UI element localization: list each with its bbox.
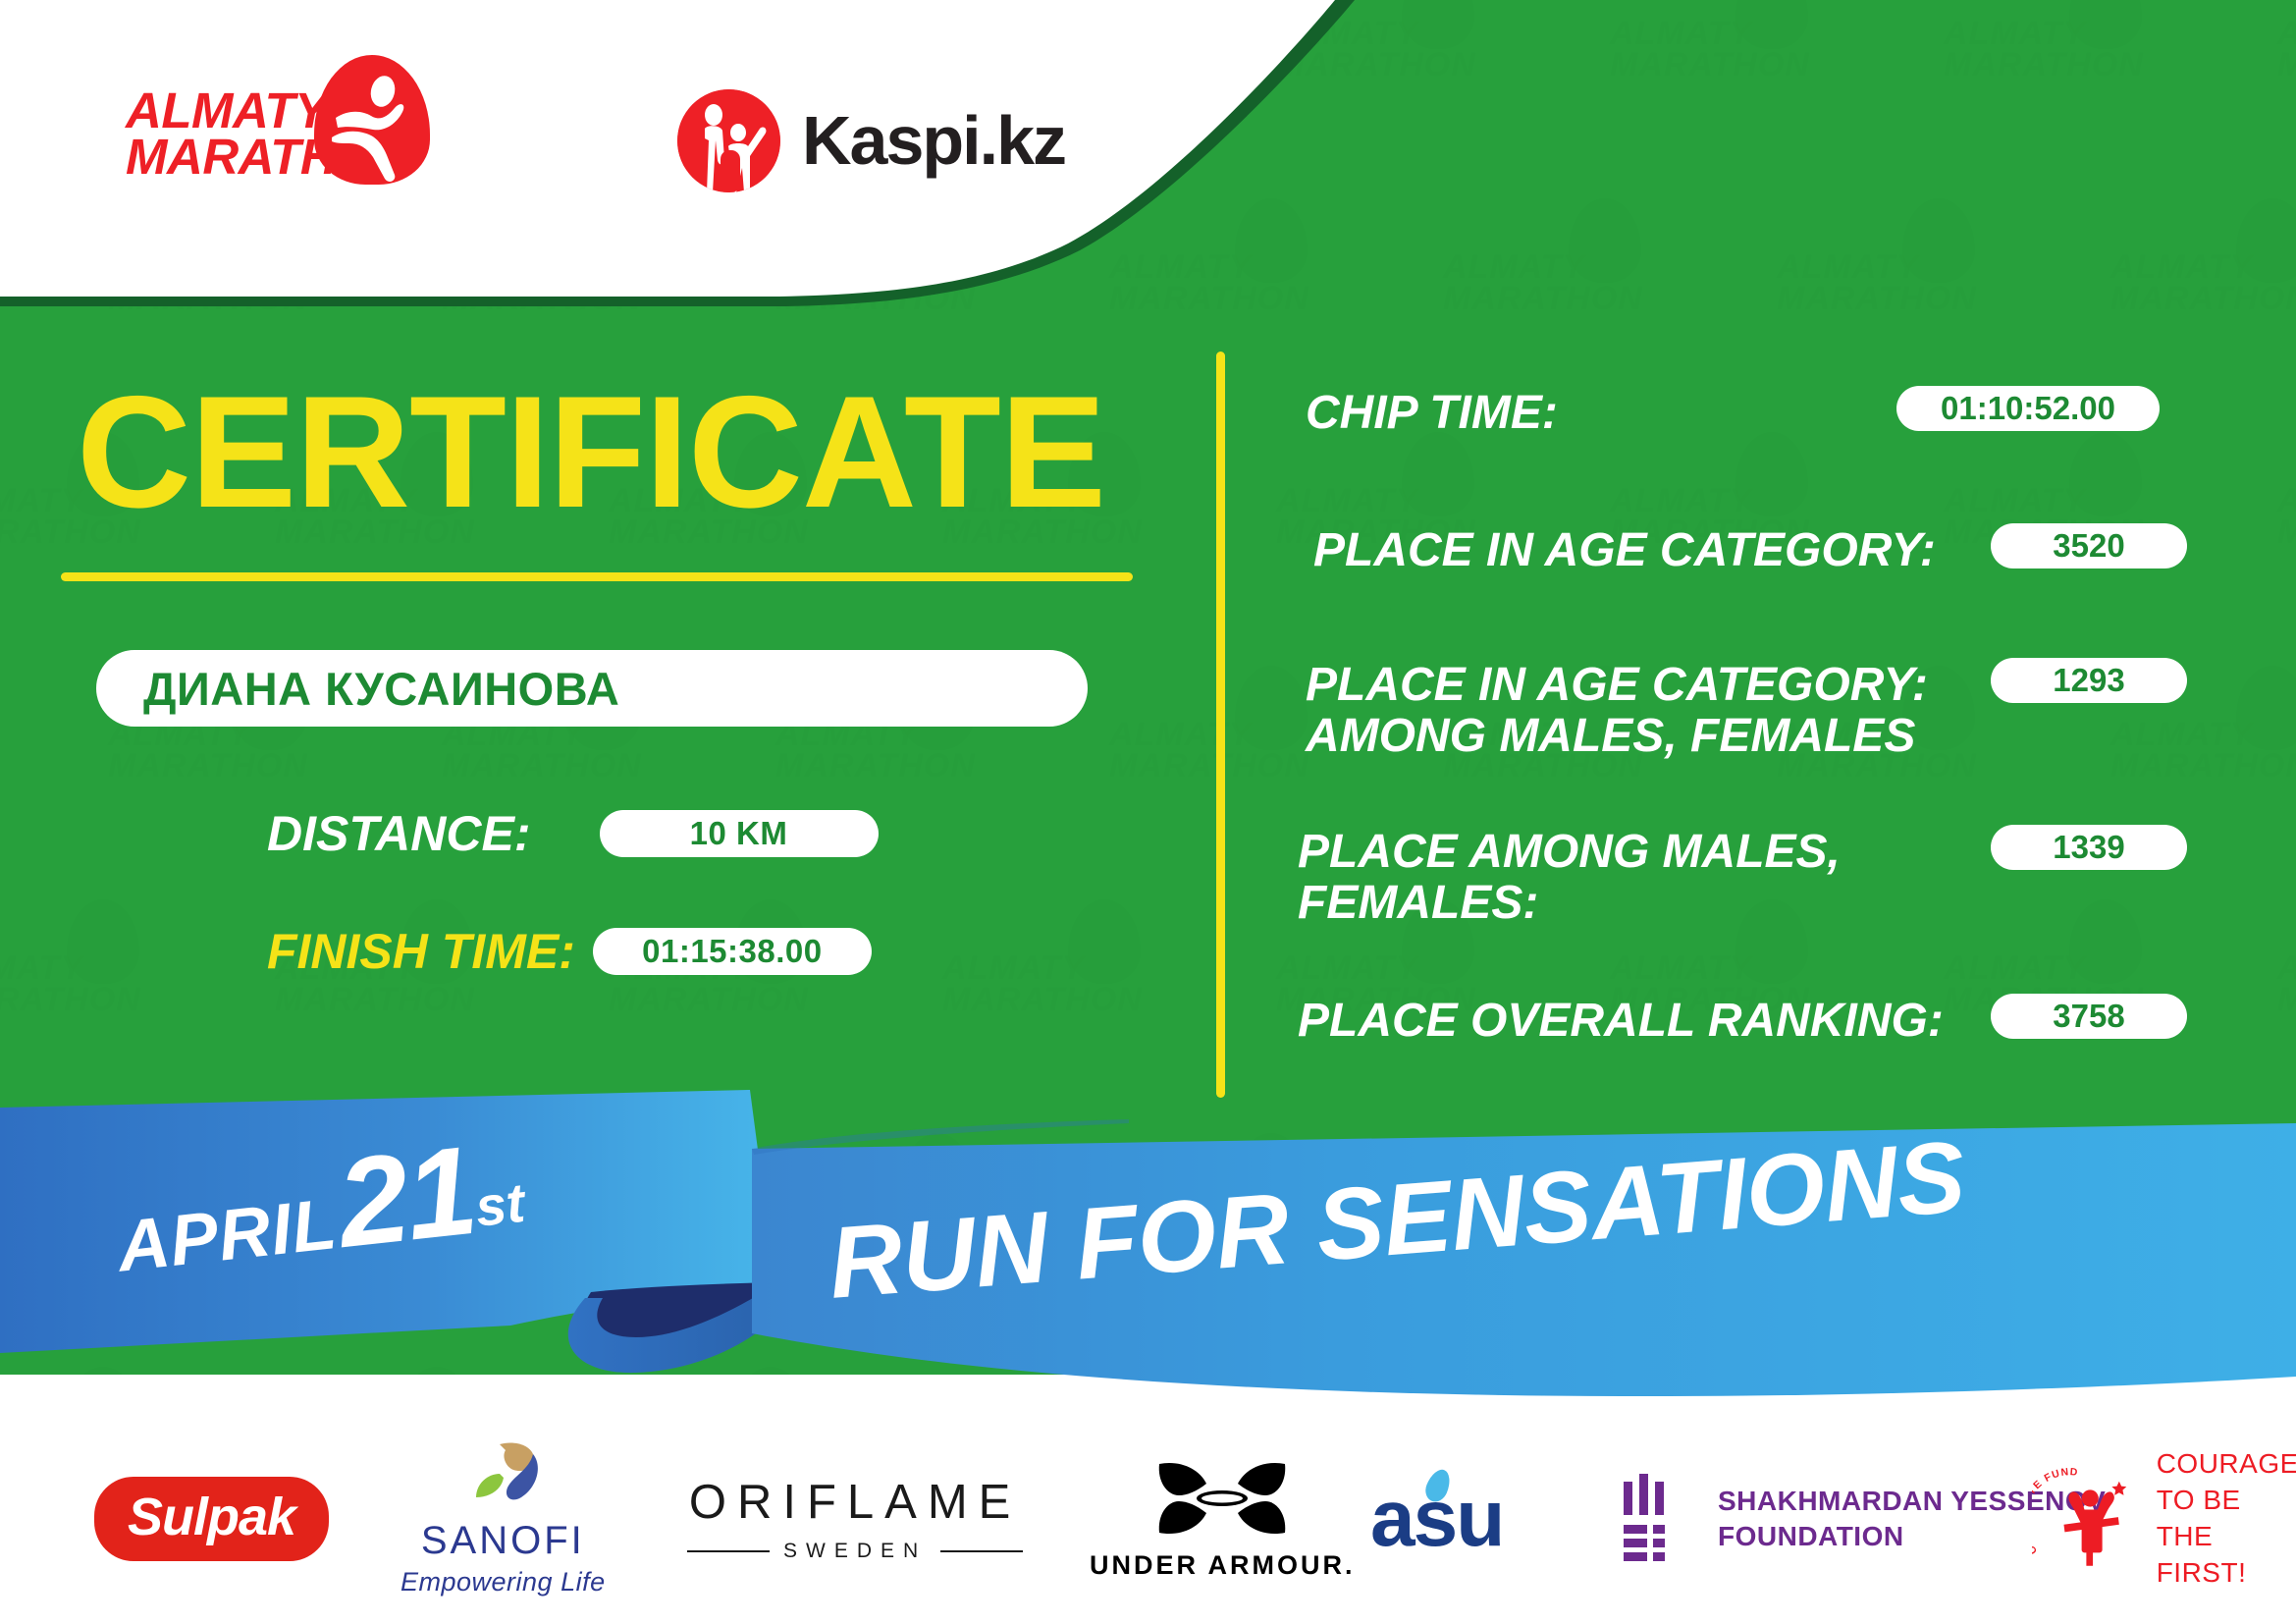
watermark-text: ALMATYMARATHON [2277, 485, 2296, 549]
watermark-text: ALMATYMARATHON [108, 719, 308, 783]
courage-figure-icon: CORPORATE FUND [2032, 1468, 2143, 1570]
stat-value-place-age-among: 1293 [1991, 658, 2187, 703]
sponsor-sanofi: SANOFI Empowering Life [400, 1414, 606, 1624]
courage-logo-text: COURAGE TO BE THE FIRST! [2157, 1446, 2296, 1592]
under-armour-logo-text: UNDER ARMOUR. [1090, 1550, 1356, 1581]
page-title: CERTIFICATE [77, 373, 1105, 532]
sponsor-under-armour: UNDER ARMOUR. [1090, 1414, 1356, 1624]
oriflame-sub-wrap: SWEDEN [687, 1540, 1023, 1563]
watermark-text: ALMATYMARATHON [942, 952, 1143, 1016]
stat-label-line1: PLACE IN AGE CATEGORY: [1306, 660, 1928, 711]
oriflame-logo-text: ORIFLAME [687, 1475, 1023, 1530]
courage-line3: THE FIRST! [2157, 1519, 2296, 1592]
certificate-canvas: ALMATYMARATHONALMATYMARATHONALMATYMARATH… [0, 0, 2296, 1624]
watermark-text: ALMATYMARATHON [1109, 719, 1309, 783]
watermark-text: ALMATYMARATHON [2277, 952, 2296, 1016]
stat-row-place-age-category: PLACE IN AGE CATEGORY: 3520 [1313, 525, 2236, 576]
kaspi-logo: Kaspi.kz [677, 86, 1065, 194]
title-underline [61, 572, 1133, 581]
ribbon-day: 21 [331, 1120, 481, 1274]
stat-label-line1: PLACE AMONG MALES, [1298, 827, 1841, 878]
sponsor-sulpak: Sulpak [94, 1414, 329, 1624]
sponsor-strip: Sulpak SANOFI Empowering Life ORIFLAME [0, 1414, 2296, 1624]
under-armour-mark-icon [1149, 1458, 1295, 1539]
stat-label-place-overall: PLACE OVERALL RANKING: [1298, 996, 1944, 1047]
finish-time-row: FINISH TIME: 01:15:38.00 [267, 923, 872, 980]
ribbon-month: APRIL [114, 1184, 341, 1287]
distance-label: DISTANCE: [267, 805, 531, 862]
sponsor-courage-to-be-the-first: CORPORATE FUND COURAGE TO BE THE FIRST! [2032, 1414, 2296, 1624]
courage-line1: COURAGE [2157, 1446, 2296, 1483]
watermark-text: ALMATYMARATHON [0, 952, 141, 1016]
stat-label-line2: AMONG MALES, FEMALES [1306, 711, 1928, 762]
stat-row-place-among-males-females: PLACE AMONG MALES, FEMALES: 1339 [1298, 827, 2220, 929]
sponsor-oriflame: ORIFLAME SWEDEN [687, 1414, 1023, 1624]
stat-value-chip-time: 01:10:52.00 [1896, 386, 2160, 431]
oriflame-rule-right [940, 1550, 1023, 1552]
sanofi-tagline: Empowering Life [400, 1567, 606, 1597]
finish-time-label: FINISH TIME: [267, 923, 575, 980]
stat-label-place-age-among: PLACE IN AGE CATEGORY: AMONG MALES, FEMA… [1306, 660, 1928, 762]
distance-value: 10 KM [600, 810, 879, 857]
participant-name-field: ДИАНА КУСАИНОВА [96, 650, 1088, 727]
watermark-text: ALMATYMARATHON [775, 719, 976, 783]
yessenov-mark-icon [1622, 1474, 1692, 1564]
distance-row: DISTANCE: 10 KM [267, 805, 879, 862]
courage-line2: TO BE [2157, 1483, 2296, 1519]
asu-logo-text: asu [1370, 1473, 1503, 1565]
stat-label-place-among-males-females: PLACE AMONG MALES, FEMALES: [1298, 827, 1841, 929]
vertical-divider [1216, 352, 1225, 1098]
almaty-marathon-logo: ALMATY MARATHON [126, 61, 450, 189]
svg-text:CORPORATE FUND: CORPORATE FUND [2032, 1468, 2079, 1556]
runner-figure-icon [314, 55, 430, 185]
oriflame-sub-text: SWEDEN [783, 1540, 927, 1563]
watermark-text: ALMATYMARATHON [442, 719, 642, 783]
stat-label-chip-time: CHIP TIME: [1306, 388, 1558, 439]
stat-row-chip-time: CHIP TIME: 01:10:52.00 [1306, 388, 2228, 439]
stat-value-place-overall: 3758 [1991, 994, 2187, 1039]
participant-name-value: ДИАНА КУСАИНОВА [143, 662, 619, 716]
stat-value-place-among-males-females: 1339 [1991, 825, 2187, 870]
ribbon-ordinal: st [472, 1171, 527, 1238]
oriflame-rule-left [687, 1550, 770, 1552]
sulpak-logo-text: Sulpak [94, 1477, 329, 1561]
stat-row-place-age-among: PLACE IN AGE CATEGORY: AMONG MALES, FEMA… [1306, 660, 2228, 762]
kaspi-family-icon [677, 89, 780, 192]
stat-value-place-age-category: 3520 [1991, 523, 2187, 568]
stat-label-line2: FEMALES: [1298, 878, 1841, 929]
sanofi-logo-text: SANOFI [400, 1519, 606, 1563]
sponsor-asu: asu [1370, 1414, 1503, 1624]
stat-label-place-age-category: PLACE IN AGE CATEGORY: [1313, 525, 1936, 576]
kaspi-logo-text: Kaspi.kz [802, 101, 1065, 180]
finish-time-value: 01:15:38.00 [593, 928, 872, 975]
stat-row-place-overall: PLACE OVERALL RANKING: 3758 [1298, 996, 2220, 1047]
sanofi-mark-icon [460, 1440, 545, 1513]
